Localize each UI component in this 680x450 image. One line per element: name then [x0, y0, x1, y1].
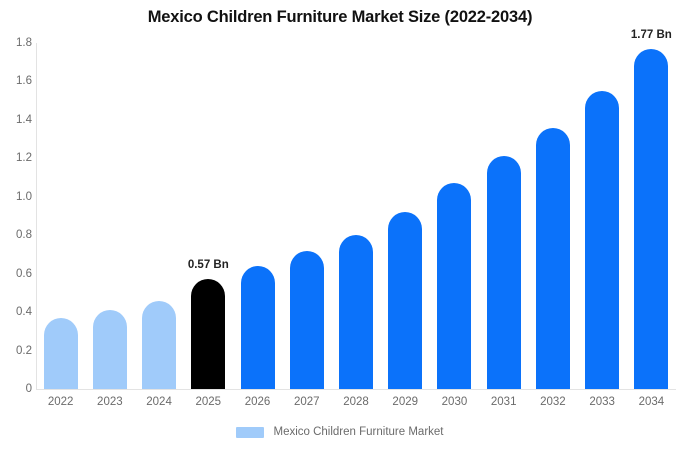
bar-2026[interactable]: [241, 266, 275, 389]
y-axis: 00.20.40.60.81.01.21.41.61.8: [0, 0, 32, 450]
bar-2027[interactable]: [290, 251, 324, 389]
y-axis-tick-label: 1.4: [2, 114, 32, 126]
bar-2030[interactable]: [437, 183, 471, 389]
y-axis-tick-label: 1.0: [2, 191, 32, 203]
legend-swatch-icon: [236, 427, 264, 438]
legend-label: Mexico Children Furniture Market: [273, 426, 443, 438]
bar-group: [93, 43, 127, 389]
bar-2023[interactable]: [93, 310, 127, 389]
x-axis-tick-label: 2034: [621, 396, 680, 408]
y-axis-tick-label: 1.2: [2, 152, 32, 164]
bar-chart: Mexico Children Furniture Market Size (2…: [0, 0, 680, 450]
bar-group: [536, 43, 570, 389]
bar-2029[interactable]: [388, 212, 422, 389]
bar-value-label: 1.77 Bn: [631, 29, 672, 41]
y-axis-tick-label: 0.8: [2, 229, 32, 241]
y-axis-tick-label: 1.6: [2, 75, 32, 87]
bar-group: [290, 43, 324, 389]
bar-2033[interactable]: [585, 91, 619, 389]
bar-group: 1.77 Bn: [634, 43, 668, 389]
y-axis-tick-label: 0.2: [2, 345, 32, 357]
bar-group: [241, 43, 275, 389]
bar-2032[interactable]: [536, 128, 570, 389]
bar-value-label: 0.57 Bn: [188, 259, 229, 271]
bar-2028[interactable]: [339, 235, 373, 389]
x-axis-line: [36, 389, 676, 390]
plot-area: 0.57 Bn1.77 Bn: [36, 43, 676, 389]
bar-2025[interactable]: [191, 279, 225, 389]
bar-group: [44, 43, 78, 389]
y-axis-tick-label: 1.8: [2, 37, 32, 49]
y-axis-tick-label: 0: [2, 383, 32, 395]
bar-group: [388, 43, 422, 389]
bar-group: [142, 43, 176, 389]
bar-group: [487, 43, 521, 389]
bar-2034[interactable]: [634, 49, 668, 389]
bar-group: [437, 43, 471, 389]
bar-2031[interactable]: [487, 156, 521, 389]
chart-legend[interactable]: Mexico Children Furniture Market: [0, 426, 680, 438]
bar-2024[interactable]: [142, 301, 176, 389]
bar-group: [585, 43, 619, 389]
y-axis-tick-label: 0.4: [2, 306, 32, 318]
bar-group: [339, 43, 373, 389]
bar-group: 0.57 Bn: [191, 43, 225, 389]
y-axis-tick-label: 0.6: [2, 268, 32, 280]
bar-2022[interactable]: [44, 318, 78, 389]
chart-title: Mexico Children Furniture Market Size (2…: [0, 8, 680, 27]
